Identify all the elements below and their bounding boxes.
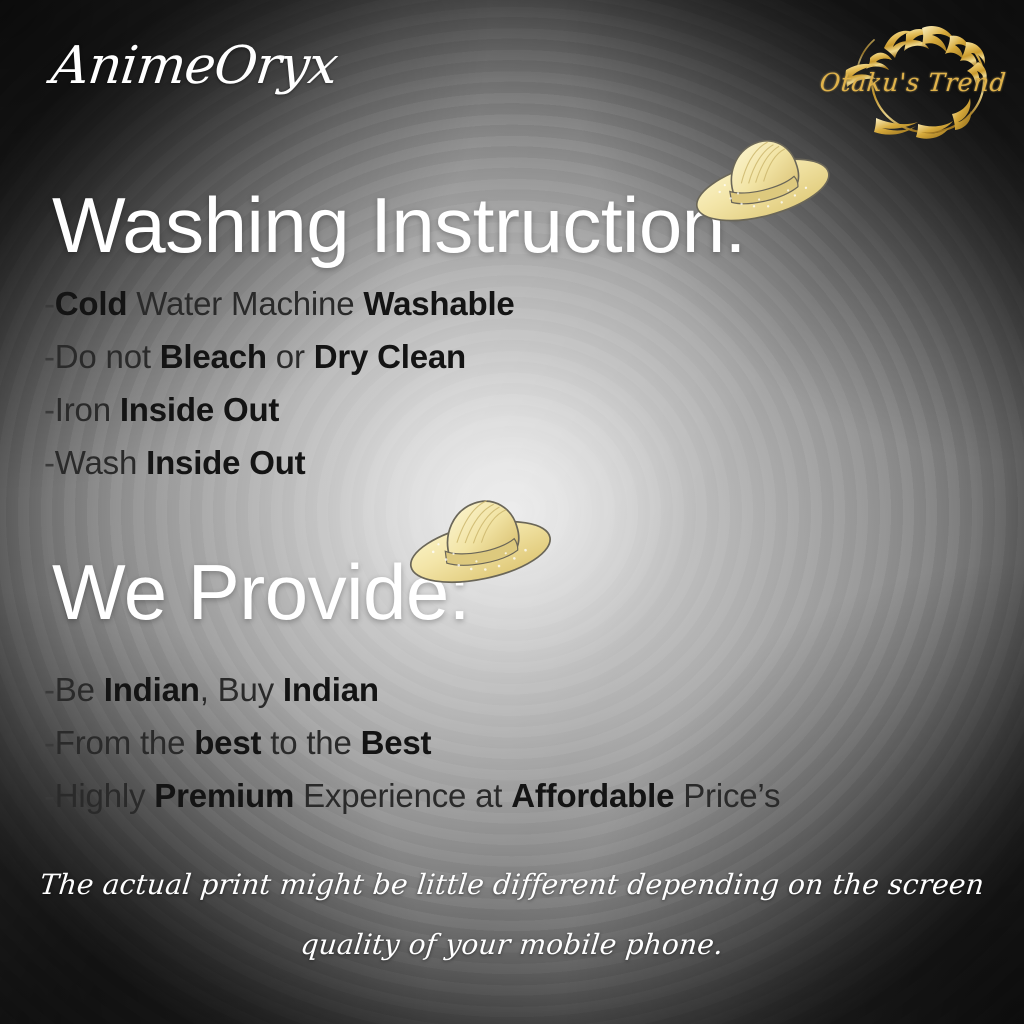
list-item-text: , Buy	[200, 671, 283, 708]
list-item-emphasis: Cold	[55, 285, 128, 322]
list-item-emphasis: Indian	[283, 671, 379, 708]
list-item-text: to the	[261, 724, 360, 761]
list-item-text: Iron	[55, 391, 120, 428]
logo-flourish-top-center	[922, 26, 970, 59]
logo-flourish-top-left	[866, 29, 933, 70]
list-item-text: Price’s	[674, 777, 780, 814]
list-item-emphasis: Premium	[154, 777, 294, 814]
list-item-emphasis: Indian	[104, 671, 200, 708]
list-item: -Do not Bleach or Dry Clean	[44, 339, 466, 375]
list-item-text: Be	[55, 671, 104, 708]
list-item-text: Do not	[55, 338, 160, 375]
list-item-emphasis: Best	[361, 724, 432, 761]
otakus-trend-logo: Otaku's Trend	[818, 14, 1008, 146]
list-item-emphasis: Inside Out	[146, 444, 305, 481]
list-item: -Cold Water Machine Washable	[44, 286, 515, 322]
washing-instruction-card: AnimeOryx	[0, 0, 1024, 1024]
heading-washing-instruction: Washing Instruction:	[52, 186, 746, 264]
list-item-text: Wash	[55, 444, 146, 481]
list-bullet-dash: -	[44, 777, 55, 814]
list-bullet-dash: -	[44, 724, 55, 761]
list-item-text: Highly	[55, 777, 154, 814]
list-item-emphasis: Washable	[363, 285, 514, 322]
footer-disclaimer-line-2: quality of your mobile phone.	[0, 928, 1024, 961]
list-item-text: or	[267, 338, 314, 375]
list-item: -Iron Inside Out	[44, 392, 279, 428]
logo-flourish-top-right	[960, 42, 987, 86]
list-item-emphasis: Affordable	[511, 777, 674, 814]
list-bullet-dash: -	[44, 444, 55, 481]
list-bullet-dash: -	[44, 671, 55, 708]
list-bullet-dash: -	[44, 285, 55, 322]
list-item-emphasis: Bleach	[160, 338, 267, 375]
list-item: -Highly Premium Experience at Affordable…	[44, 778, 780, 814]
list-bullet-dash: -	[44, 391, 55, 428]
list-item-text: Water Machine	[127, 285, 363, 322]
list-item-text: Experience at	[294, 777, 511, 814]
list-item-emphasis: Dry Clean	[314, 338, 466, 375]
footer-disclaimer-line-1: The actual print might be little differe…	[0, 868, 1024, 901]
brand-wordmark: AnimeOryx	[48, 36, 340, 96]
list-item: -Be Indian, Buy Indian	[44, 672, 379, 708]
straw-hat-icon	[400, 484, 559, 591]
list-item: -From the best to the Best	[44, 725, 431, 761]
list-bullet-dash: -	[44, 338, 55, 375]
list-item-emphasis: Inside Out	[120, 391, 279, 428]
list-item: -Wash Inside Out	[44, 445, 305, 481]
list-item-text: From the	[55, 724, 194, 761]
list-item-emphasis: best	[194, 724, 261, 761]
